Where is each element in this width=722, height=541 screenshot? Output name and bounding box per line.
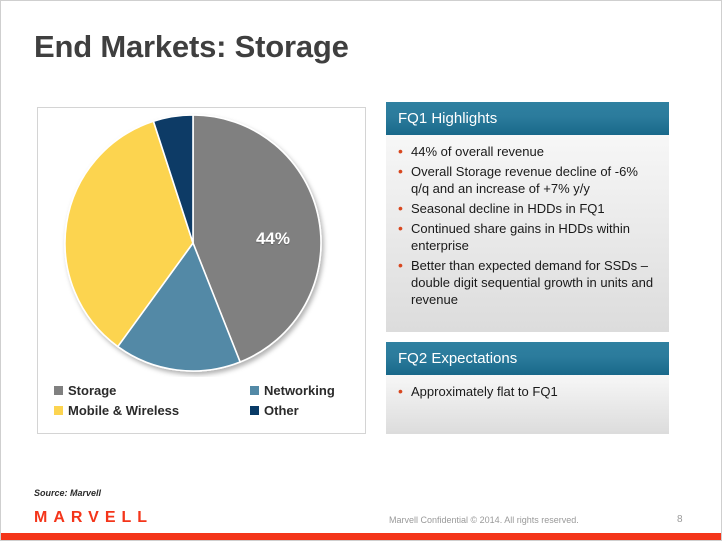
bullet-item: •Overall Storage revenue decline of -6% … — [398, 163, 657, 197]
legend-label: Mobile & Wireless — [68, 403, 179, 418]
bullet-dot-icon: • — [398, 220, 411, 237]
bullet-dot-icon: • — [398, 143, 411, 160]
bullet-dot-icon: • — [398, 383, 411, 400]
confidentiality-notice: Marvell Confidential © 2014. All rights … — [389, 515, 579, 525]
bullet-item: •Approximately flat to FQ1 — [398, 383, 657, 400]
pie-slices — [65, 115, 321, 371]
bullet-item: •Better than expected demand for SSDs – … — [398, 257, 657, 308]
panel-fq1-header: FQ1 Highlights — [386, 102, 669, 135]
page-title: End Markets: Storage — [34, 29, 349, 65]
panel-fq2-header: FQ2 Expectations — [386, 342, 669, 375]
chart-legend: StorageNetworkingMobile & WirelessOther — [54, 383, 354, 423]
bullet-dot-icon: • — [398, 200, 411, 217]
bullet-dot-icon: • — [398, 163, 411, 180]
panel-fq1-body: •44% of overall revenue•Overall Storage … — [386, 135, 669, 332]
bullet-item: •Continued share gains in HDDs within en… — [398, 220, 657, 254]
legend-label: Other — [264, 403, 299, 418]
pie-chart-svg — [38, 112, 365, 377]
bullet-item: •44% of overall revenue — [398, 143, 657, 160]
panel-fq2-expectations: FQ2 Expectations •Approximately flat to … — [386, 342, 669, 434]
legend-item-mobile-wireless[interactable]: Mobile & Wireless — [54, 403, 204, 418]
legend-item-other[interactable]: Other — [204, 403, 354, 418]
pie-chart-panel: 44% StorageNetworkingMobile & WirelessOt… — [37, 107, 366, 434]
bullet-dot-icon: • — [398, 257, 411, 274]
bullet-text: Seasonal decline in HDDs in FQ1 — [411, 200, 605, 217]
legend-label: Networking — [264, 383, 335, 398]
legend-swatch-icon — [250, 386, 259, 395]
footer-accent-bar — [1, 533, 722, 540]
marvell-logo: MARVELL — [34, 509, 153, 527]
bullet-text: Continued share gains in HDDs within ent… — [411, 220, 657, 254]
legend-label: Storage — [68, 383, 116, 398]
bullet-item: •Seasonal decline in HDDs in FQ1 — [398, 200, 657, 217]
panel-fq2-body: •Approximately flat to FQ1 — [386, 375, 669, 434]
bullet-text: Overall Storage revenue decline of -6% q… — [411, 163, 657, 197]
pie-chart: 44% — [38, 112, 365, 377]
slide: End Markets: Storage 44% StorageNetworki… — [0, 0, 722, 541]
bullet-text: Approximately flat to FQ1 — [411, 383, 558, 400]
bullet-text: Better than expected demand for SSDs – d… — [411, 257, 657, 308]
legend-swatch-icon — [250, 406, 259, 415]
page-number: 8 — [677, 514, 683, 525]
bullet-text: 44% of overall revenue — [411, 143, 544, 160]
panel-fq1-highlights: FQ1 Highlights •44% of overall revenue•O… — [386, 102, 669, 332]
source-note: Source: Marvell — [34, 488, 101, 498]
legend-swatch-icon — [54, 406, 63, 415]
legend-item-networking[interactable]: Networking — [204, 383, 354, 398]
legend-item-storage[interactable]: Storage — [54, 383, 204, 398]
legend-swatch-icon — [54, 386, 63, 395]
